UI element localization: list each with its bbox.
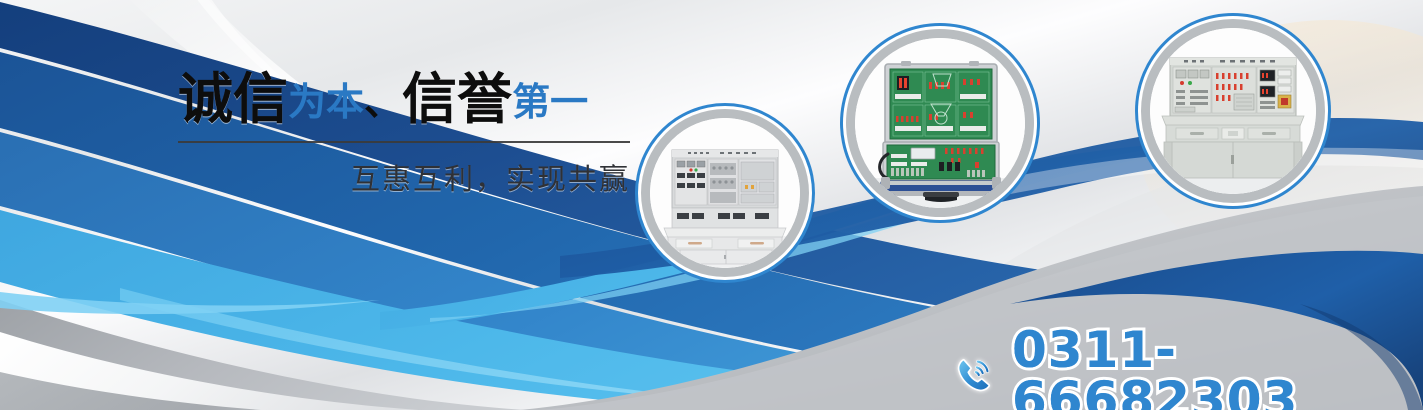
product-image-2 [855,38,1025,208]
product-circle-3[interactable] [1150,28,1316,194]
headline-punctuation: 、 [364,80,402,124]
phone-number-wrap: 0311-66682303 0311-66682303 [1012,325,1423,410]
subtitle: 互惠互利，实现共赢 [178,156,630,198]
headline-block: 诚信为本、信誉第一 互惠互利，实现共赢 [178,72,630,198]
promotional-banner: 诚信为本、信誉第一 互惠互利，实现共赢 [0,0,1423,410]
product-circle-1[interactable] [650,118,800,268]
headline-divider [178,141,630,143]
phone-call-icon [952,352,998,398]
contact-block[interactable]: 0311-66682303 0311-66682303 [952,325,1423,410]
phone-number[interactable]: 0311-66682303 [1012,321,1298,410]
portable-electronics-training-case-icon [855,38,1025,208]
electrical-control-console-icon [1150,28,1316,194]
headline-part-4: 第一 [512,80,588,124]
headline-part-3: 信誉 [402,67,512,131]
product-circle-2[interactable] [855,38,1025,208]
product-image-3 [1150,28,1316,194]
headline-part-1: 诚信 [178,67,288,131]
headline-part-2: 为本 [288,80,364,124]
headline: 诚信为本、信誉第一 [178,72,630,127]
product-image-1 [650,118,800,268]
electrical-training-workbench-icon [650,118,800,268]
